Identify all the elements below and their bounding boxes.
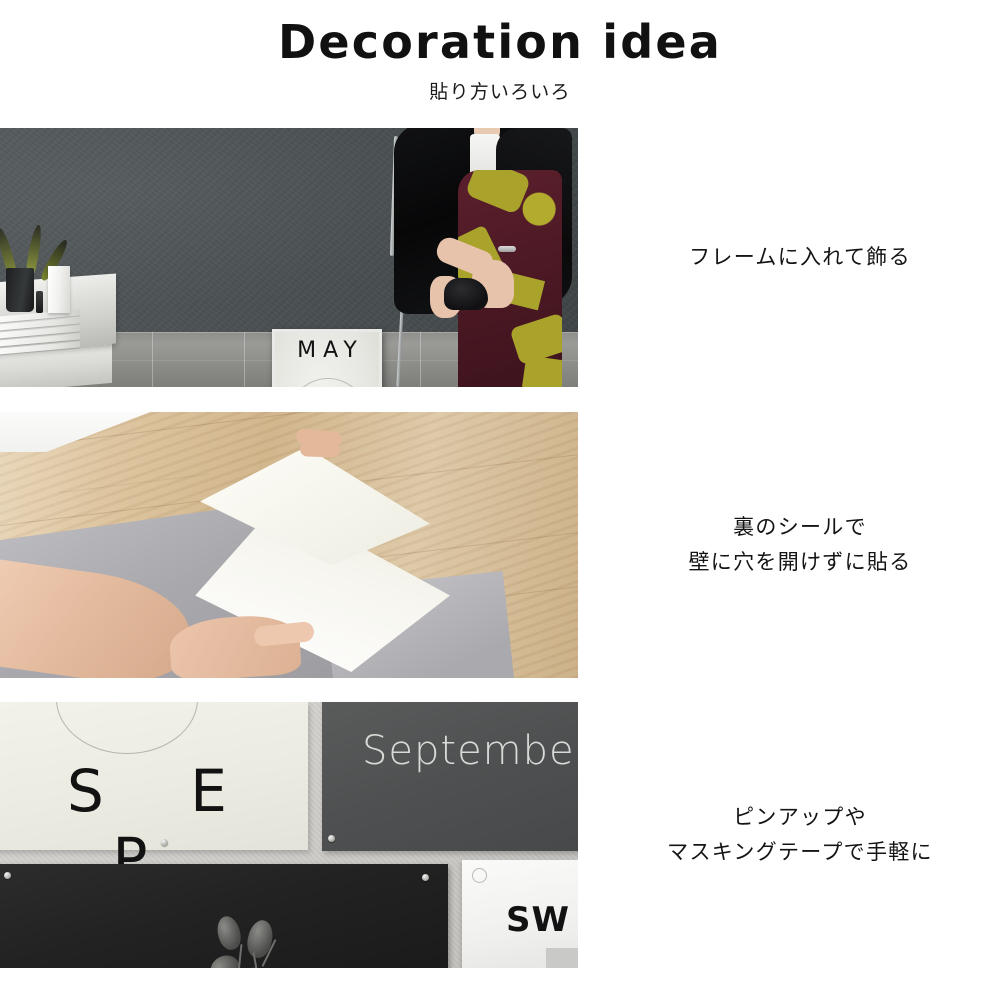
- seated-person: [386, 128, 578, 387]
- caption-row-2: 裏のシールで 壁に穴を開けずに貼る: [600, 412, 1000, 678]
- poster-september-text: September: [362, 728, 578, 774]
- caption-line: 裏のシールで: [733, 510, 867, 545]
- feature-row-1: MAY MAY MAY: [0, 128, 1000, 387]
- poster-sw-swatch: [546, 948, 578, 968]
- poster-sw-mark: [472, 868, 487, 883]
- plant-pot: [6, 268, 34, 312]
- small-bottle: [36, 291, 43, 313]
- push-pin: [161, 839, 168, 846]
- poster-sep: S E P: [0, 702, 308, 850]
- poster-september: September: [322, 702, 578, 851]
- page-title: Decoration idea: [0, 0, 1000, 68]
- white-box: [48, 266, 70, 313]
- botanical-illustration: [208, 916, 328, 968]
- black-shoe: [444, 278, 488, 310]
- poster-word: MAY: [275, 338, 379, 363]
- page-subtitle: 貼り方いろいろ: [0, 68, 1000, 104]
- caption-row-1: フレームに入れて飾る: [600, 128, 1000, 387]
- wristwatch: [498, 246, 516, 252]
- poster-circle-shape: [288, 378, 368, 387]
- push-pin: [422, 874, 429, 881]
- caption-line: マスキングテープで手軽に: [667, 835, 933, 870]
- finger: [300, 441, 340, 457]
- caption-line: 壁に穴を開けずに貼る: [689, 545, 912, 580]
- picture-frame: MAY MAY MAY: [272, 329, 382, 387]
- poster-artwork: MAY MAY MAY: [275, 332, 379, 387]
- poster-circle-shape: [56, 702, 198, 754]
- poster-sw-text: SW: [506, 900, 570, 940]
- caption-row-3: ピンアップや マスキングテープで手軽に: [600, 702, 1000, 968]
- stacked-books: [0, 309, 80, 352]
- page-header: Decoration idea 貼り方いろいろ: [0, 0, 1000, 104]
- photo-framed-poster-in-room: MAY MAY MAY: [0, 128, 578, 387]
- poster-sw: SW: [462, 860, 578, 968]
- photo-posters-pinned-on-board: September S E P SW: [0, 702, 578, 968]
- caption-line: フレームに入れて飾る: [689, 240, 911, 275]
- caption-line: ピンアップや: [733, 800, 867, 835]
- push-pin: [328, 835, 335, 842]
- push-pin: [4, 872, 11, 879]
- feature-row-2: 裏のシールで 壁に穴を開けずに貼る: [0, 412, 1000, 678]
- feature-row-3: September S E P SW ピン: [0, 702, 1000, 968]
- photo-peeling-backing-sheet: [0, 412, 578, 678]
- poster-botanical-dark: [0, 864, 448, 968]
